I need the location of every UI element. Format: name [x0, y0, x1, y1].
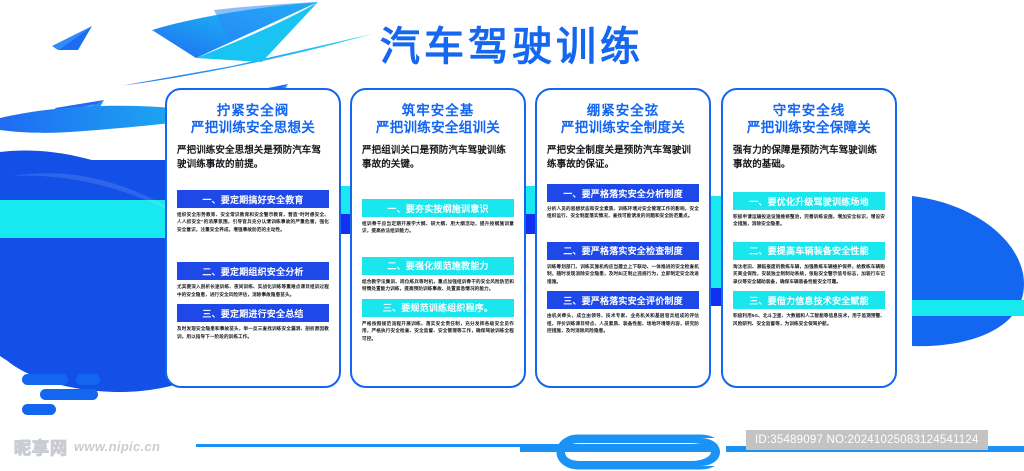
info-panel-1: 拧紧安全阀 严把训练安全思想关 严把训练安全思想关是预防汽车驾驶训练事故的前提。… — [165, 88, 341, 388]
panel-1-section-3: 三、要定期进行安全总结 及时发现安全隐患和事故苗头，举一反三查找训练安全漏洞、剖… — [177, 304, 329, 340]
panel-1-section-1-body: 组织安全形势教育、安全常识教育和安全警示教育，营造“时时想安全、人人抓安全”的浓… — [177, 211, 329, 233]
panel-3-title-line1: 绷紧安全弦 — [547, 102, 699, 119]
panel-1-section-3-body: 及时发现安全隐患和事故苗头，举一反三查找训练安全漏洞、剖析原因教训，用以指导下一… — [177, 325, 329, 340]
panel-3-section-3-body: 由机关牵头、成立由领导、技术专家、业务机关和基层官兵组成的评估组，评价训练课目特… — [547, 312, 699, 334]
panel-1-section-3-heading: 三、要定期进行安全总结 — [177, 304, 329, 322]
panel-4-title-line1: 守牢安全线 — [733, 102, 885, 119]
panel-1-section-2-body: 尤其要深入剖析长途训练、夜间训练、实战化训练等重难点课目组训过程中的安全隐患，进… — [177, 283, 329, 298]
panel-4-title-line2: 严把训练安全保障关 — [733, 119, 885, 136]
panel-2-title-line2: 严把训练安全组训关 — [362, 119, 514, 136]
panel-2-section-2: 二、要强化规范施教能力 结合教学法集训、岗位练兵等时机，重点加强组训骨干的安全风… — [362, 257, 514, 293]
panel-3-section-2: 二、要严格落实安全检查制度 训练筹划部门、训练实施机构应当建立上下联动、一体推进… — [547, 242, 699, 285]
panel-4-section-3-heading: 三、要借力信息技术安全赋能 — [733, 291, 885, 309]
panel-3-section-2-body: 训练筹划部门、训练实施机构应当建立上下联动、一体推进的安全检查机制，随时发现消除… — [547, 263, 699, 285]
panel-2-lead: 严把组训关口是预防汽车驾驶训练事故的关键。 — [362, 144, 514, 173]
panel-4-title: 守牢安全线 严把训练安全保障关 — [733, 102, 885, 137]
speed-dashes-left — [22, 374, 100, 415]
panel-2-section-2-body: 结合教学法集训、岗位练兵等时机，重点加强组训骨干的安全风险防范和特情处置能力训练… — [362, 278, 514, 293]
panel-1-title-line1: 拧紧安全阀 — [177, 102, 329, 119]
watermark-logo: 昵享网 — [14, 434, 68, 459]
panel-2-section-2-heading: 二、要强化规范施教能力 — [362, 257, 514, 275]
info-panel-2: 筑牢安全基 严把训练安全组训关 严把组训关口是预防汽车驾驶训练事故的关键。 一、… — [350, 88, 526, 388]
info-panel-3: 绷紧安全弦 严把训练安全制度关 严把安全制度关是预防汽车驾驶训练事故的保证。 一… — [535, 88, 711, 388]
wing-shape-right — [912, 196, 1024, 346]
poster-canvas: 汽车驾驶训练 拧紧安全阀 严把训练安全思想关 严把训练安全思想关是预防汽车驾驶训… — [0, 0, 1024, 471]
panel-1-section-2: 二、要定期组织安全分析 尤其要深入剖析长途训练、夜间训练、实战化训练等重难点课目… — [177, 262, 329, 298]
panel-3-section-3: 三、要严格落实安全评价制度 由机关牵头、成立由领导、技术专家、业务机关和基层官兵… — [547, 291, 699, 334]
panel-1-title: 拧紧安全阀 严把训练安全思想关 — [177, 102, 329, 137]
panel-2-section-3: 三、要规范训练组织程序。 严格按照规范流程开展训练，落实安全责任制，充分发挥各级… — [362, 299, 514, 342]
watermark-rule — [196, 444, 716, 447]
panel-3-section-1-heading: 一、要严格落实安全分析制度 — [547, 184, 699, 202]
panel-2-section-1: 一、要夯实按纲施训意识 组训骨干应当定期开展学大纲、研大纲、用大纲活动，提升按纲… — [362, 199, 514, 235]
panel-4-lead: 强有力的保障是预防汽车驾驶训练事故的基础。 — [733, 144, 885, 173]
panel-4-section-3: 三、要借力信息技术安全赋能 积极利用5G、北斗卫星、大数据和人工智能等信息技术，… — [733, 291, 885, 327]
panel-2-title: 筑牢安全基 严把训练安全组训关 — [362, 102, 514, 137]
panel-4-section-2-heading: 二、要提高车辆装备安全性能 — [733, 242, 885, 260]
panel-4-section-2-body: 淘汰老旧、濒临报废的教练车辆，加强教练车辆维护保养，给教练车辆购买商业保险，安装… — [733, 263, 885, 285]
panel-1-title-line2: 严把训练安全思想关 — [177, 119, 329, 136]
panel-3-section-2-heading: 二、要严格落实安全检查制度 — [547, 242, 699, 260]
panel-3-title: 绷紧安全弦 严把训练安全制度关 — [547, 102, 699, 137]
panel-1-section-1-heading: 一、要定期搞好安全教育 — [177, 190, 329, 208]
panel-3-section-3-heading: 三、要严格落实安全评价制度 — [547, 291, 699, 309]
panel-4-section-3-body: 积极利用5G、北斗卫星、大数据和人工智能等信息技术，用于监测预警、风险研判、安全… — [733, 312, 885, 327]
page-title: 汽车驾驶训练 — [0, 14, 1024, 72]
panel-2-section-1-heading: 一、要夯实按纲施训意识 — [362, 199, 514, 217]
panel-4-section-1-heading: 一、要优化升级驾驶训练场地 — [733, 192, 885, 210]
panel-2-section-1-body: 组训骨干应当定期开展学大纲、研大纲、用大纲活动，提升按纲施训意识，提高依法组训能… — [362, 220, 514, 235]
panel-2-section-3-heading: 三、要规范训练组织程序。 — [362, 299, 514, 317]
panel-3-title-line2: 严把训练安全制度关 — [547, 119, 699, 136]
watermark: 昵享网 www.nipic.cn — [14, 434, 160, 459]
panel-4-section-1-body: 积极申请运输投送设施维修整治，完善训练设施，增加安全标识，增设安全措施，消除安全… — [733, 213, 885, 228]
panel-1-section-2-heading: 二、要定期组织安全分析 — [177, 262, 329, 280]
id-badge: ID:35489097 NO:20241025083124541124 — [746, 430, 988, 450]
panel-4-section-1: 一、要优化升级驾驶训练场地 积极申请运输投送设施维修整治，完善训练设施，增加安全… — [733, 192, 885, 228]
panel-1-lead: 严把训练安全思想关是预防汽车驾驶训练事故的前提。 — [177, 144, 329, 173]
panel-4-section-2: 二、要提高车辆装备安全性能 淘汰老旧、濒临报废的教练车辆，加强教练车辆维护保养，… — [733, 242, 885, 285]
panel-2-title-line1: 筑牢安全基 — [362, 102, 514, 119]
panel-1-section-1: 一、要定期搞好安全教育 组织安全形势教育、安全常识教育和安全警示教育，营造“时时… — [177, 190, 329, 233]
panel-2-section-3-body: 严格按照规范流程开展训练，落实安全责任制，充分发挥各级安全员作用，严格执行安全检… — [362, 320, 514, 342]
panel-3-section-1: 一、要严格落实安全分析制度 分析人员的思想状态和安全素质、训练环境对安全管理工作… — [547, 184, 699, 220]
panel-3-section-1-body: 分析人员的思想状态和安全素质、训练环境对安全管理工作的影响，安全组织运行、安全制… — [547, 205, 699, 220]
panel-3-lead: 严把安全制度关是预防汽车驾驶训练事故的保证。 — [547, 144, 699, 173]
info-panel-4: 守牢安全线 严把训练安全保障关 强有力的保障是预防汽车驾驶训练事故的基础。 一、… — [721, 88, 897, 388]
watermark-url: www.nipic.cn — [74, 439, 160, 454]
